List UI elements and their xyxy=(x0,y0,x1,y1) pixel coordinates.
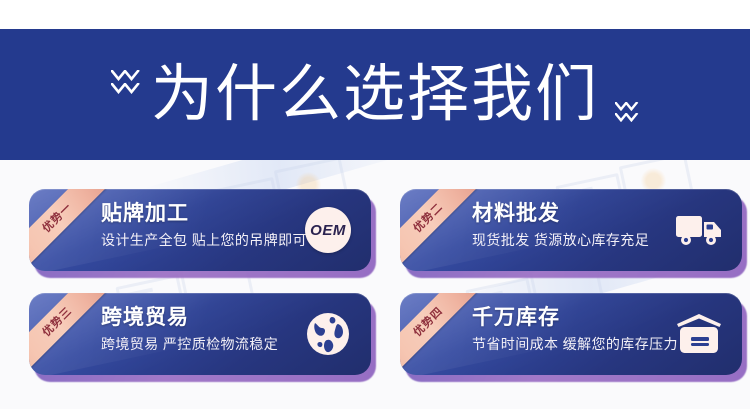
oem-badge-label: OEM xyxy=(310,223,346,238)
oem-badge-circle: OEM xyxy=(305,207,351,253)
card-text-block: 跨境贸易 跨境贸易 严控质检物流稳定 xyxy=(101,306,293,352)
card-text-block: 千万库存 节省时间成本 缓解您的库存压力 xyxy=(472,306,664,352)
header-banner: 为什么选择我们 xyxy=(0,29,750,160)
warehouse-box-icon xyxy=(672,307,726,361)
truck-icon xyxy=(672,203,726,257)
card-subtitle: 现货批发 货源放心库存充足 xyxy=(472,232,664,248)
advantage-card[interactable]: 优势二 材料批发 现货批发 货源放心库存充足 xyxy=(400,189,742,271)
card-title: 千万库存 xyxy=(472,306,664,330)
ribbon-label: 优势二 xyxy=(412,201,445,234)
promo-banner-page: 为什么选择我们 xyxy=(0,0,750,409)
card-title: 贴牌加工 xyxy=(101,202,293,226)
advantages-section: 优势一 贴牌加工 设计生产全包 贴上您的吊牌即可 OEM xyxy=(0,160,750,409)
ribbon-band: 优势四 xyxy=(400,293,482,375)
advantage-card[interactable]: 优势四 千万库存 节省时间成本 缓解您的库存压力 xyxy=(400,293,742,375)
chevron-row xyxy=(111,83,141,94)
card-body[interactable]: 优势三 跨境贸易 跨境贸易 严控质检物流稳定 xyxy=(29,293,371,375)
ribbon-label: 优势四 xyxy=(412,305,445,338)
ribbon-band: 优势一 xyxy=(29,189,111,271)
ribbon-label: 优势一 xyxy=(41,201,74,234)
chevron-row xyxy=(615,102,639,111)
ribbon-tail xyxy=(75,293,86,304)
double-chevron-icon xyxy=(111,70,141,94)
card-body[interactable]: 优势四 千万库存 节省时间成本 缓解您的库存压力 xyxy=(400,293,742,375)
card-body[interactable]: 优势一 贴牌加工 设计生产全包 贴上您的吊牌即可 OEM xyxy=(29,189,371,271)
card-title: 跨境贸易 xyxy=(101,306,293,330)
ribbon-tail xyxy=(400,339,411,350)
card-title: 材料批发 xyxy=(472,202,664,226)
globe-icon xyxy=(301,307,355,361)
chevron-row xyxy=(615,113,639,122)
ribbon-band: 优势二 xyxy=(400,189,482,271)
advantage-card-grid: 优势一 贴牌加工 设计生产全包 贴上您的吊牌即可 OEM xyxy=(0,160,750,409)
ribbon-tail xyxy=(446,293,457,304)
chevron-row xyxy=(111,70,141,81)
ribbon-tail xyxy=(400,235,411,246)
advantage-card[interactable]: 优势三 跨境贸易 跨境贸易 严控质检物流稳定 xyxy=(29,293,371,375)
ribbon-band: 优势三 xyxy=(29,293,111,375)
page-title: 为什么选择我们 xyxy=(151,64,599,126)
double-chevron-icon xyxy=(615,102,639,122)
card-subtitle: 跨境贸易 严控质检物流稳定 xyxy=(101,336,293,352)
card-text-block: 材料批发 现货批发 货源放心库存充足 xyxy=(472,202,664,248)
oem-badge: OEM xyxy=(301,203,355,257)
advantage-card[interactable]: 优势一 贴牌加工 设计生产全包 贴上您的吊牌即可 OEM xyxy=(29,189,371,271)
ribbon-tail xyxy=(29,235,40,246)
ribbon-tail xyxy=(75,189,86,200)
card-body[interactable]: 优势二 材料批发 现货批发 货源放心库存充足 xyxy=(400,189,742,271)
ribbon-tail xyxy=(446,189,457,200)
ribbon-tail xyxy=(29,339,40,350)
card-text-block: 贴牌加工 设计生产全包 贴上您的吊牌即可 xyxy=(101,202,293,248)
ribbon-label: 优势三 xyxy=(41,305,74,338)
card-subtitle: 节省时间成本 缓解您的库存压力 xyxy=(472,336,664,352)
card-subtitle: 设计生产全包 贴上您的吊牌即可 xyxy=(101,232,293,248)
